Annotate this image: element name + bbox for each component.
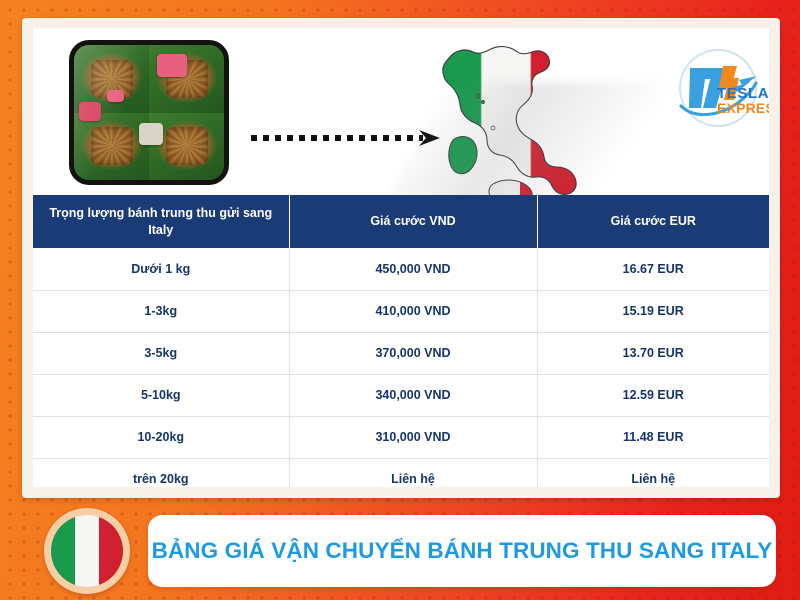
column-header-eur: Giá cước EUR <box>537 195 769 248</box>
price-table: Trọng lượng bánh trung thu gửi sang Ital… <box>33 195 769 487</box>
poster-root: TESLA EXPRESS Trọng lượng bánh trung thu… <box>0 0 800 600</box>
cell-weight: 10-20kg <box>33 416 289 458</box>
flag-stripe-red <box>99 515 123 587</box>
package-sticker <box>79 102 102 121</box>
cell-vnd: 450,000 VND <box>289 248 537 290</box>
cell-eur: 15.19 EUR <box>537 290 769 332</box>
italy-flag-badge <box>44 508 130 594</box>
logo-wordmark: TESLA EXPRESS <box>717 86 769 116</box>
mooncake-tray-photo <box>69 40 229 185</box>
map-shadow <box>382 82 679 210</box>
flag-stripe-white <box>75 515 99 587</box>
table-header-row: Trọng lượng bánh trung thu gửi sang Ital… <box>33 195 769 248</box>
package-sticker <box>157 54 187 77</box>
cell-weight: 3-5kg <box>33 332 289 374</box>
title-banner: BẢNG GIÁ VẬN CHUYỂN BÁNH TRUNG THU SANG … <box>148 515 776 587</box>
cell-vnd: 310,000 VND <box>289 416 537 458</box>
tesla-express-logo[interactable]: TESLA EXPRESS <box>667 46 769 138</box>
cell-vnd: 410,000 VND <box>289 290 537 332</box>
column-header-vnd: Giá cước VND <box>289 195 537 248</box>
table-row: 10-20kg 310,000 VND 11.48 EUR <box>33 416 769 458</box>
logo-text-tesla: TESLA <box>717 86 769 101</box>
table-row: trên 20kg Liên hệ Liên hệ <box>33 458 769 487</box>
table-row: Dưới 1 kg 450,000 VND 16.67 EUR <box>33 248 769 290</box>
cell-weight: Dưới 1 kg <box>33 248 289 290</box>
cell-vnd: 370,000 VND <box>289 332 537 374</box>
hero-section: TESLA EXPRESS <box>33 28 769 195</box>
logo-text-express: EXPRESS <box>717 101 769 115</box>
table-row: 3-5kg 370,000 VND 13.70 EUR <box>33 332 769 374</box>
package-sticker <box>139 123 163 145</box>
card-frame: TESLA EXPRESS Trọng lượng bánh trung thu… <box>22 18 780 498</box>
table-row: 5-10kg 340,000 VND 12.59 EUR <box>33 374 769 416</box>
card: TESLA EXPRESS Trọng lượng bánh trung thu… <box>33 28 769 487</box>
cell-weight: trên 20kg <box>33 458 289 487</box>
cell-weight: 1-3kg <box>33 290 289 332</box>
cell-eur: Liên hệ <box>537 458 769 487</box>
banner-title: BẢNG GIÁ VẬN CHUYỂN BÁNH TRUNG THU SANG … <box>152 538 773 564</box>
cell-vnd: Liên hệ <box>289 458 537 487</box>
cell-eur: 12.59 EUR <box>537 374 769 416</box>
mooncake-item <box>74 113 149 181</box>
cell-eur: 11.48 EUR <box>537 416 769 458</box>
italy-flag-icon <box>51 515 123 587</box>
italy-map <box>431 36 631 212</box>
cell-weight: 5-10kg <box>33 374 289 416</box>
package-sticker <box>107 90 124 102</box>
cell-vnd: 340,000 VND <box>289 374 537 416</box>
column-header-weight: Trọng lượng bánh trung thu gửi sang Ital… <box>33 195 289 248</box>
cell-eur: 13.70 EUR <box>537 332 769 374</box>
flag-stripe-green <box>51 515 75 587</box>
table-row: 1-3kg 410,000 VND 15.19 EUR <box>33 290 769 332</box>
cell-eur: 16.67 EUR <box>537 248 769 290</box>
price-table-section: Trọng lượng bánh trung thu gửi sang Ital… <box>33 195 769 487</box>
